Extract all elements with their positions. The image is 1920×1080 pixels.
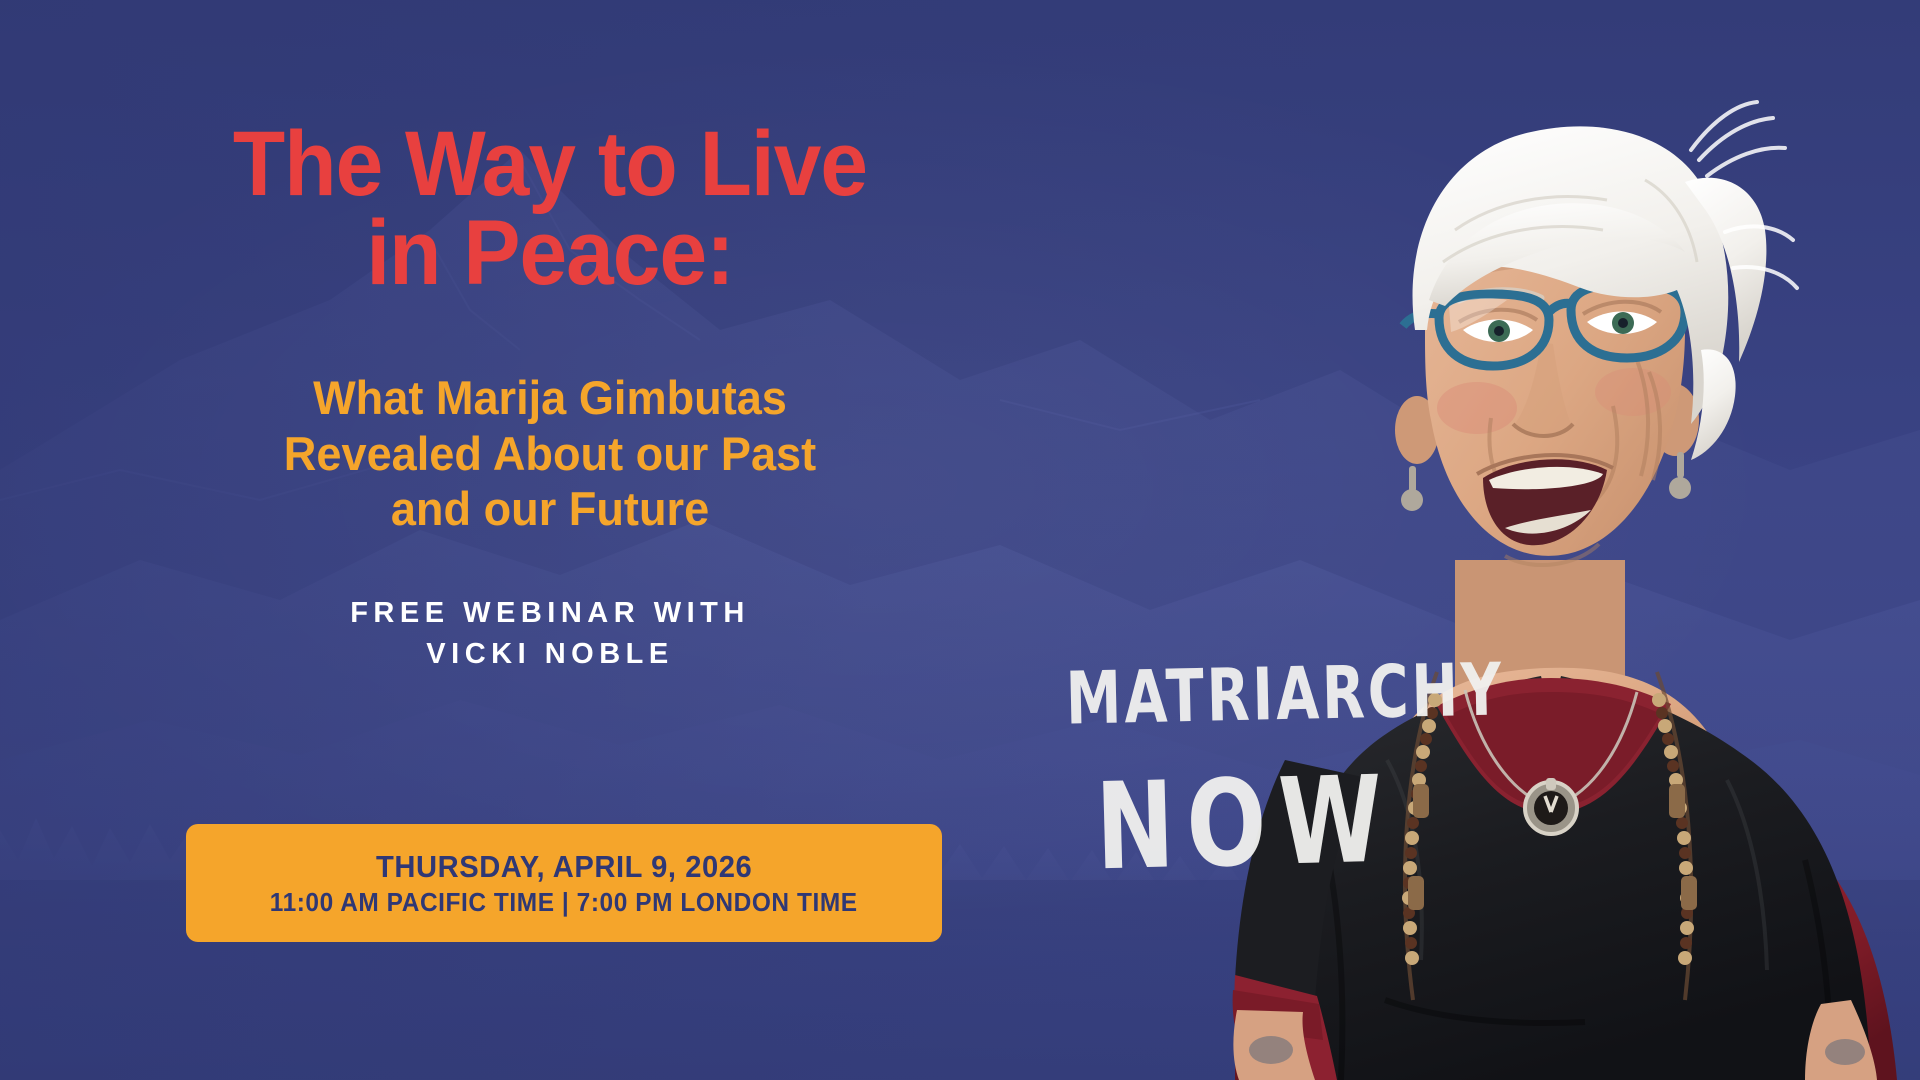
poster-subtitle: What Marija Gimbutas Revealed About our … bbox=[166, 370, 934, 536]
date-time-badge[interactable]: Thursday, April 9, 2026 11:00 AM Pacific… bbox=[186, 824, 942, 942]
webinar-promo-poster: MATRIARCHY NOW The Way to Live in Peace:… bbox=[0, 0, 1920, 1080]
title-line-1: The Way to Live bbox=[233, 113, 867, 215]
poster-title: The Way to Live in Peace: bbox=[178, 120, 922, 298]
presenter-line-1: Free Webinar With bbox=[150, 593, 950, 634]
subtitle-line-2: Revealed About our Past bbox=[166, 426, 934, 481]
subtitle-line-1: What Marija Gimbutas bbox=[166, 370, 934, 425]
speaker-photo: MATRIARCHY NOW bbox=[985, 0, 1920, 1080]
badge-date: Thursday, April 9, 2026 bbox=[376, 849, 752, 885]
badge-times: 11:00 AM Pacific Time | 7:00 PM London T… bbox=[270, 887, 858, 918]
title-line-2: in Peace: bbox=[178, 209, 922, 298]
subtitle-line-3: and our Future bbox=[166, 481, 934, 536]
presenter-line-2: Vicki Noble bbox=[150, 634, 950, 675]
presenter-line: Free Webinar With Vicki Noble bbox=[150, 593, 950, 675]
